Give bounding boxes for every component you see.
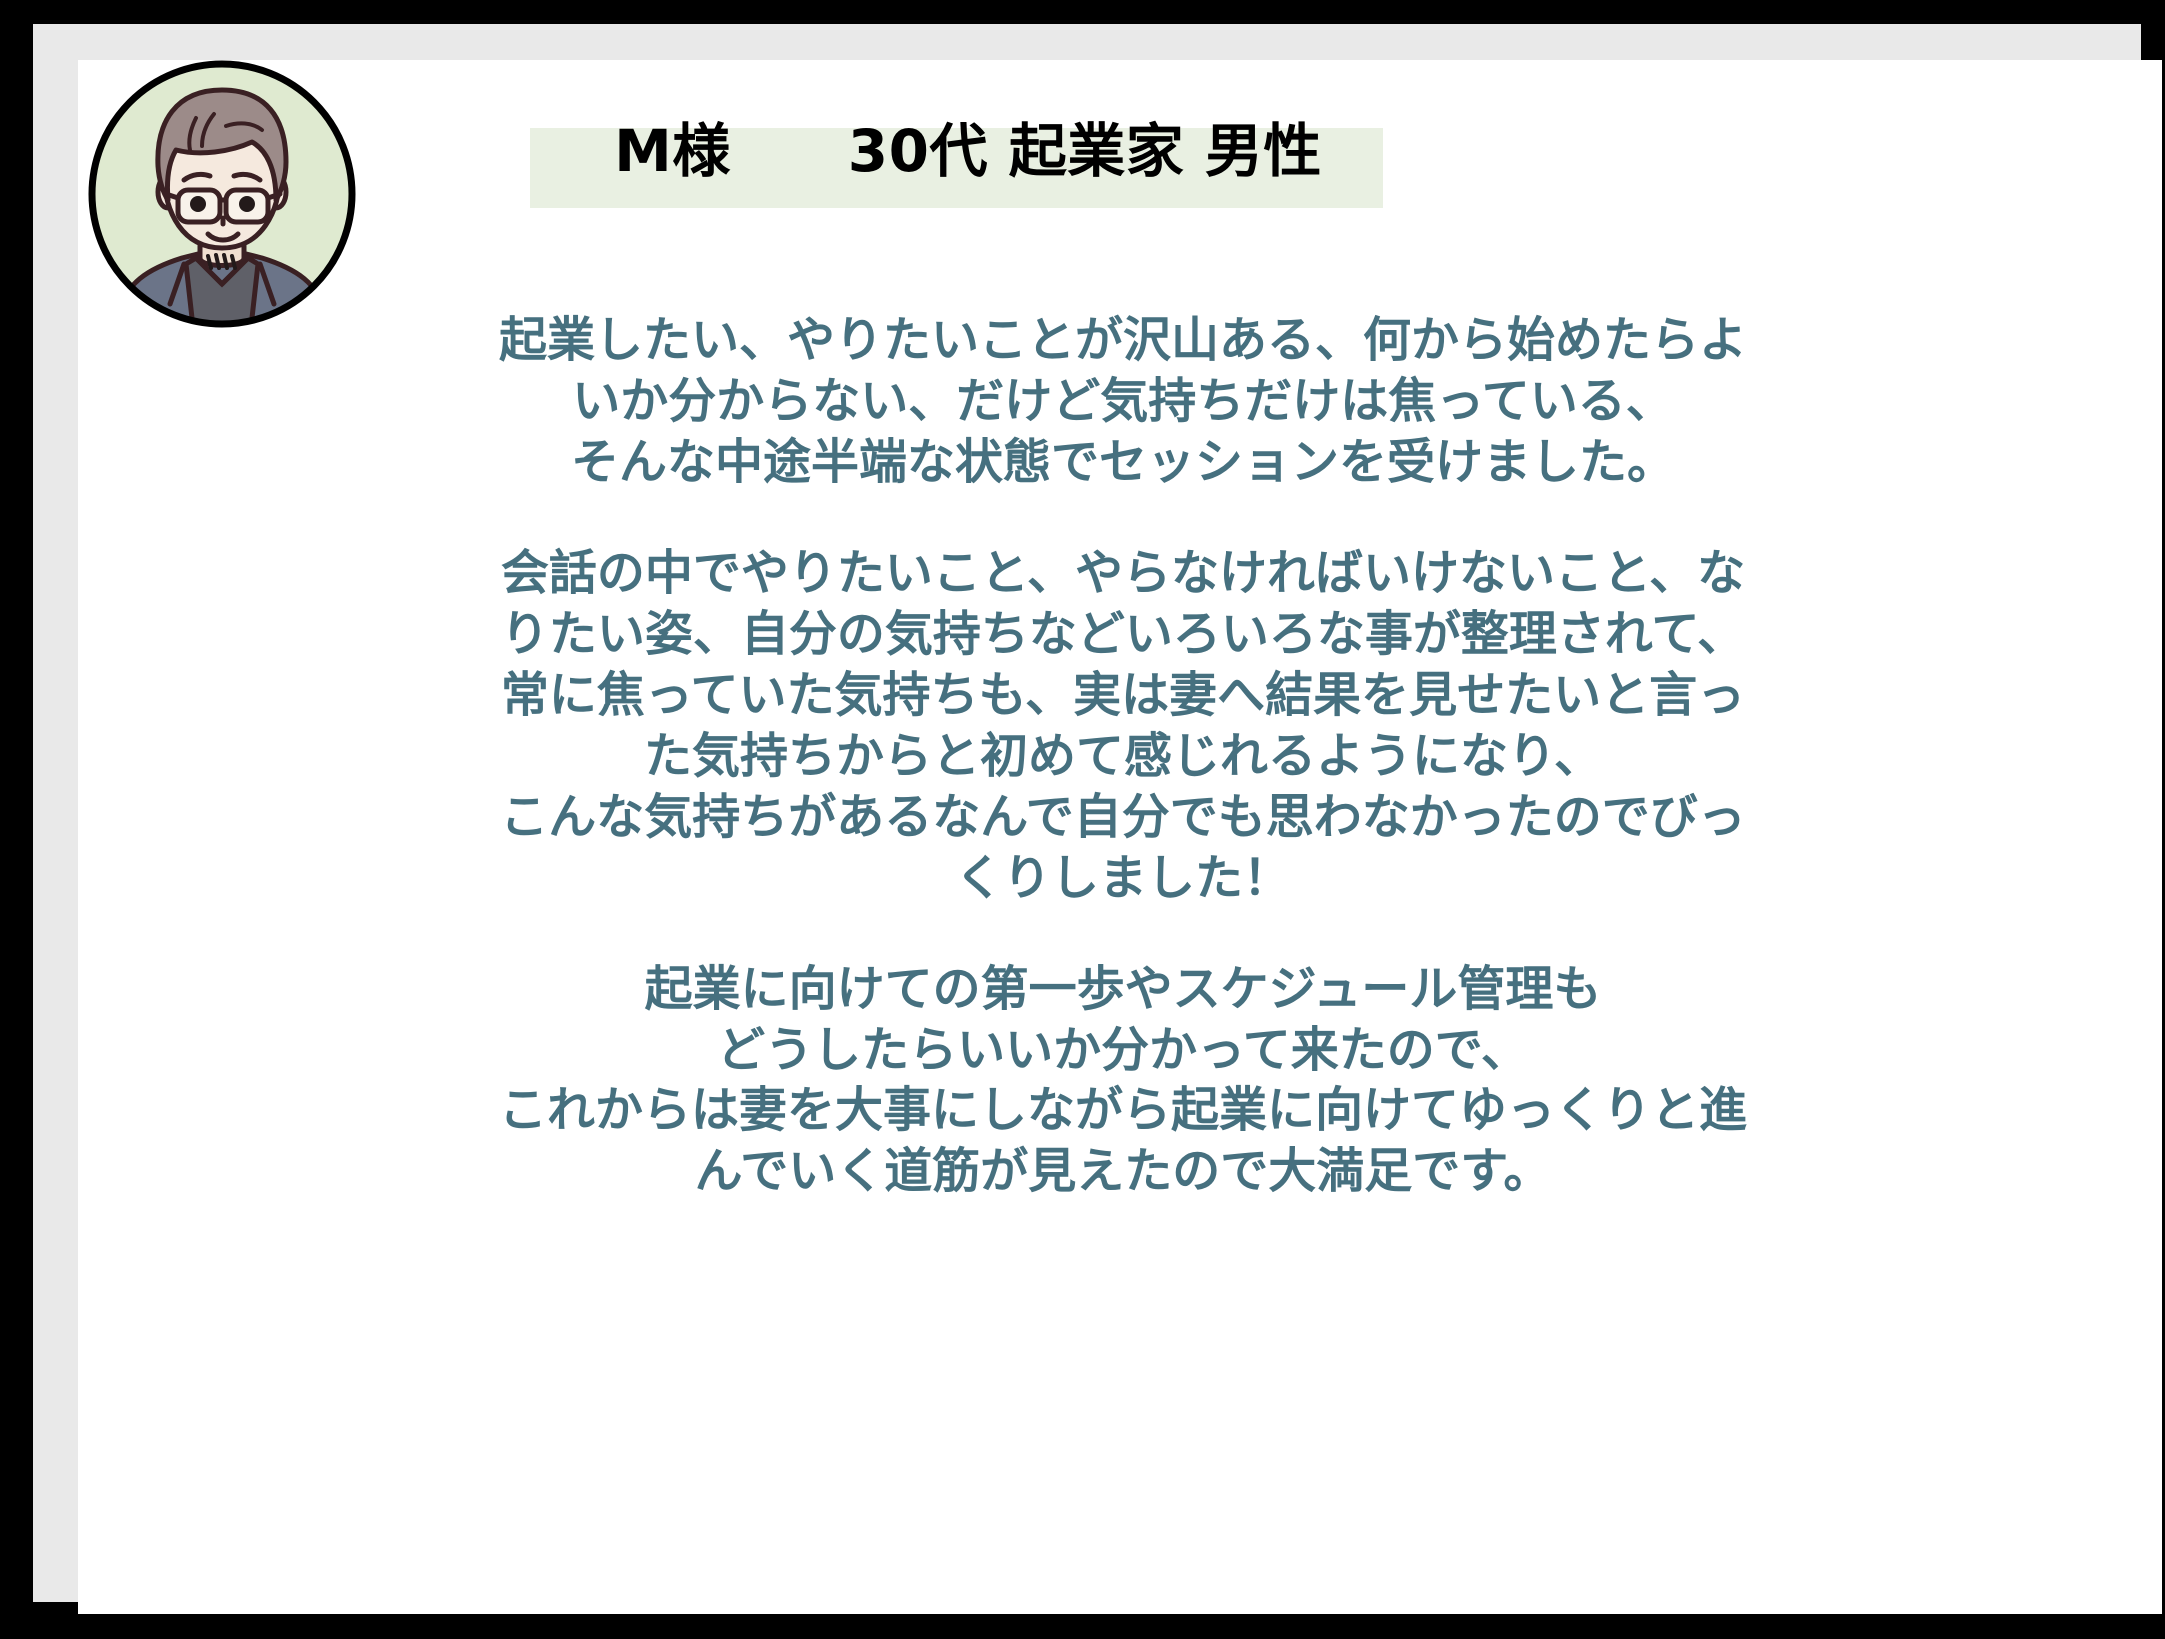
page-title: M様 30代 起業家 男性 (498, 108, 1438, 194)
paragraph-line: た気持ちからと初めて感じれるようになり、 (278, 726, 1968, 787)
avatar (80, 60, 364, 336)
card-bezel: M様 30代 起業家 男性 起業したい、やりたいことが沢山ある、何から始めたらよ… (33, 24, 2141, 1602)
paragraph-line: 起業したい、やりたいことが沢山ある、何から始めたらよ (278, 310, 1968, 371)
paragraph-3: 起業に向けての第一歩やスケジュール管理も どうしたらいいか分かって来たので、 こ… (278, 959, 1968, 1203)
testimonial-card: M様 30代 起業家 男性 起業したい、やりたいことが沢山ある、何から始めたらよ… (0, 0, 2165, 1639)
paragraph-line: いか分からない、だけど気持ちだけは焦っている、 (278, 371, 1968, 432)
paragraph-line: そんな中途半端な状態でセッションを受けました。 (278, 432, 1968, 493)
paragraph-line: どうしたらいいか分かって来たので、 (278, 1020, 1968, 1081)
paragraph-line: くりしました！ (278, 848, 1968, 909)
paragraph-line: んでいく道筋が見えたので大満足です。 (278, 1141, 1968, 1202)
paragraph-1: 起業したい、やりたいことが沢山ある、何から始めたらよ いか分からない、だけど気持… (278, 310, 1968, 493)
paragraph-line: 会話の中でやりたいこと、やらなければいけないこと、な (278, 543, 1968, 604)
paragraph-line: こんな気持ちがあるなんで自分でも思わなかったのでびっ (278, 787, 1968, 848)
paragraph-line: りたい姿、自分の気持ちなどいろいろな事が整理されて、 (278, 604, 1968, 665)
avatar-man-with-glasses-icon (80, 60, 364, 336)
testimonial-body: 起業したい、やりたいことが沢山ある、何から始めたらよ いか分からない、だけど気持… (278, 310, 1968, 1202)
paragraph-line: 常に焦っていた気持ちも、実は妻へ結果を見せたいと言っ (278, 665, 1968, 726)
paragraph-line: 起業に向けての第一歩やスケジュール管理も (278, 959, 1968, 1020)
paragraph-line: これからは妻を大事にしながら起業に向けてゆっくりと進 (278, 1080, 1968, 1141)
card-page: M様 30代 起業家 男性 起業したい、やりたいことが沢山ある、何から始めたらよ… (78, 60, 2162, 1614)
paragraph-2: 会話の中でやりたいこと、やらなければいけないこと、な りたい姿、自分の気持ちなど… (278, 543, 1968, 909)
